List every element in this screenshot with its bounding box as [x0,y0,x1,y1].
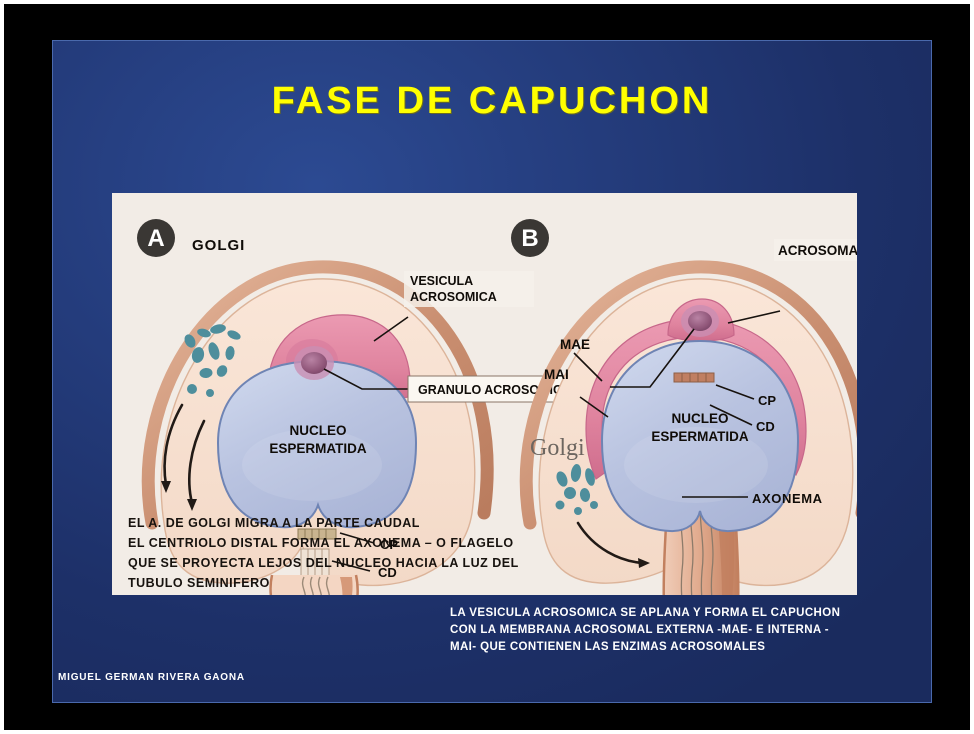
label-cd-b: CD [756,419,775,434]
label-cp-b: CP [758,393,776,408]
author-footer: MIGUEL GERMAN RIVERA GAONA [58,672,245,683]
svg-text:QUE SE PROYECTA LEJOS DEL: QUE SE PROYECTA LEJOS DEL NUCLEO HACIA L… [128,556,519,570]
svg-text:TUBULO SEMINIFERO: TUBULO SEMINIFERO [128,576,270,590]
svg-text:VESICULA: VESICULA [410,274,473,288]
label-mae: MAE [560,337,590,352]
figure-panel: A GOLGI VESICULA ACROSOMICA GRANULO ACRO… [112,193,857,595]
label-golgi-b: Golgi [530,435,585,461]
caption-line-1: LA VESICULA ACROSOMICA SE APLANA Y FORMA… [450,605,905,622]
label-vesicula-acrosomica: VESICULA ACROSOMICA [404,271,534,307]
presentation-slide: FASE DE CAPUCHON [52,40,932,703]
label-nucleo-b-1: NUCLEO [672,411,729,426]
svg-text:ACROSOMA: ACROSOMA [778,243,857,258]
label-acrosoma: ACROSOMA [774,239,857,261]
spermatid-diagram: A GOLGI VESICULA ACROSOMICA GRANULO ACRO… [112,193,857,595]
label-nucleo-b-2: ESPERMATIDA [651,429,749,444]
slide-caption: LA VESICULA ACROSOMICA SE APLANA Y FORMA… [450,605,905,656]
caption-line-2: CON LA MEMBRANA ACROSOMAL EXTERNA -MAE- … [450,622,905,639]
label-mai: MAI [544,367,569,382]
svg-text:A: A [147,225,164,252]
svg-text:ACROSOMICA: ACROSOMICA [410,290,497,304]
label-nucleo-a-2: ESPERMATIDA [269,441,367,456]
svg-text:B: B [521,225,538,252]
panel-b-badge: B [511,219,549,257]
slide-title: FASE DE CAPUCHON [52,80,932,123]
panel-a-badge: A [137,219,175,257]
label-golgi-a: GOLGI [192,237,245,254]
caption-line-3: MAI- QUE CONTIENEN LAS ENZIMAS ACROSOMAL… [450,639,905,656]
screenshot-root: FASE DE CAPUCHON [0,0,974,734]
label-axonema-b: AXONEMA [752,491,823,506]
label-nucleo-a-1: NUCLEO [290,423,347,438]
svg-text:EL A. DE GOLGI MIGRA A LA: EL A. DE GOLGI MIGRA A LA PARTE CAUDAL [128,516,420,530]
svg-text:EL CENTRIOLO DISTAL FORMA: EL CENTRIOLO DISTAL FORMA EL AXONEMA – O… [128,536,514,550]
